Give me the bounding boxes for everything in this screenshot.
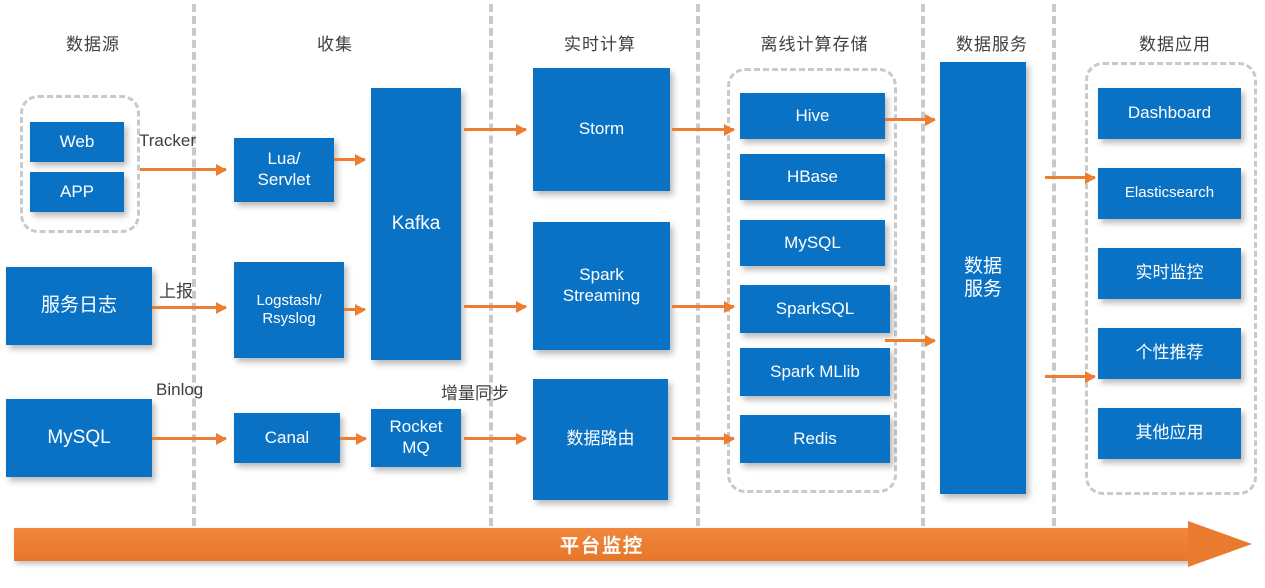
node-personal-recommendation[interactable]: 个性推荐 (1098, 328, 1241, 379)
node-spark-streaming[interactable]: Spark Streaming (533, 222, 670, 350)
arrow-servicelog-to-logstash (152, 306, 226, 309)
edge-label-tracker: Tracker (139, 131, 196, 151)
column-header-data-source: 数据源 (18, 30, 168, 55)
node-hbase[interactable]: HBase (740, 154, 885, 200)
edge-label-incremental-sync: 增量同步 (441, 379, 509, 404)
arrow-kafka-to-storm (464, 128, 526, 131)
column-header-data-application: 数据应用 (1095, 30, 1255, 55)
arrow-lua-to-kafka (334, 158, 365, 161)
arrow-rocketmq-to-data-route (464, 437, 526, 440)
column-divider-2 (489, 4, 493, 538)
column-divider-3 (696, 4, 700, 538)
node-hive[interactable]: Hive (740, 93, 885, 139)
arrow-hive-to-data-service (885, 118, 935, 121)
node-dashboard[interactable]: Dashboard (1098, 88, 1241, 139)
node-data-route[interactable]: 数据路由 (533, 379, 668, 500)
node-redis[interactable]: Redis (740, 415, 890, 463)
arrow-datasource-to-lua (140, 168, 226, 171)
arrow-sparksql-to-data-service (885, 339, 935, 342)
node-mysql-source[interactable]: MySQL (6, 399, 152, 477)
node-logstash-rsyslog-label: Logstash/ Rsyslog (256, 292, 321, 329)
arrow-logstash-to-kafka (344, 308, 365, 311)
node-storm[interactable]: Storm (533, 68, 670, 191)
column-header-realtime-compute: 实时计算 (525, 30, 675, 55)
column-divider-5 (1052, 4, 1056, 538)
node-kafka[interactable]: Kafka (371, 88, 461, 360)
platform-monitoring-banner: 平台监控 (14, 521, 1252, 568)
node-spark-streaming-label: Spark Streaming (563, 265, 640, 306)
node-service-log[interactable]: 服务日志 (6, 267, 152, 345)
node-spark-mllib[interactable]: Spark MLlib (740, 348, 890, 396)
node-elasticsearch[interactable]: Elasticsearch (1098, 168, 1241, 219)
arrow-canal-to-rocketmq (340, 437, 366, 440)
node-mysql-store[interactable]: MySQL (740, 220, 885, 266)
node-app[interactable]: APP (30, 172, 124, 212)
edge-label-report: 上报 (159, 277, 193, 302)
arrow-mysql-to-canal (152, 437, 226, 440)
node-sparksql[interactable]: SparkSQL (740, 285, 890, 333)
edge-label-binlog: Binlog (156, 380, 203, 400)
arrow-kafka-to-spark-streaming (464, 305, 526, 308)
node-rocketmq-label: Rocket MQ (390, 417, 443, 458)
node-logstash-rsyslog[interactable]: Logstash/ Rsyslog (234, 262, 344, 358)
banner-arrow-head-icon (1188, 521, 1252, 567)
arrow-data-service-to-personal-recommendation (1045, 375, 1095, 378)
node-data-service-label: 数据 服务 (964, 255, 1002, 301)
column-divider-1 (192, 4, 196, 538)
arrow-storm-to-hive (672, 128, 734, 131)
column-divider-4 (921, 4, 925, 538)
arrow-data-route-to-redis (672, 437, 734, 440)
arrow-data-service-to-elasticsearch (1045, 176, 1095, 179)
node-canal[interactable]: Canal (234, 413, 340, 463)
node-realtime-monitor[interactable]: 实时监控 (1098, 248, 1241, 299)
architecture-diagram: 数据源 收集 实时计算 离线计算存储 数据服务 数据应用 Web APP 服务日… (0, 0, 1265, 588)
node-lua-servlet-label: Lua/ Servlet (258, 149, 311, 190)
column-header-data-service: 数据服务 (937, 30, 1047, 55)
node-rocketmq[interactable]: Rocket MQ (371, 409, 461, 467)
banner-label: 平台监控 (14, 528, 1190, 561)
column-header-offline-compute-storage: 离线计算存储 (732, 30, 897, 55)
column-header-collection: 收集 (260, 30, 410, 55)
arrow-spark-streaming-to-sparksql (672, 305, 734, 308)
node-other-applications[interactable]: 其他应用 (1098, 408, 1241, 459)
data-source-group (20, 95, 140, 233)
node-lua-servlet[interactable]: Lua/ Servlet (234, 138, 334, 202)
node-web[interactable]: Web (30, 122, 124, 162)
node-data-service[interactable]: 数据 服务 (940, 62, 1026, 494)
